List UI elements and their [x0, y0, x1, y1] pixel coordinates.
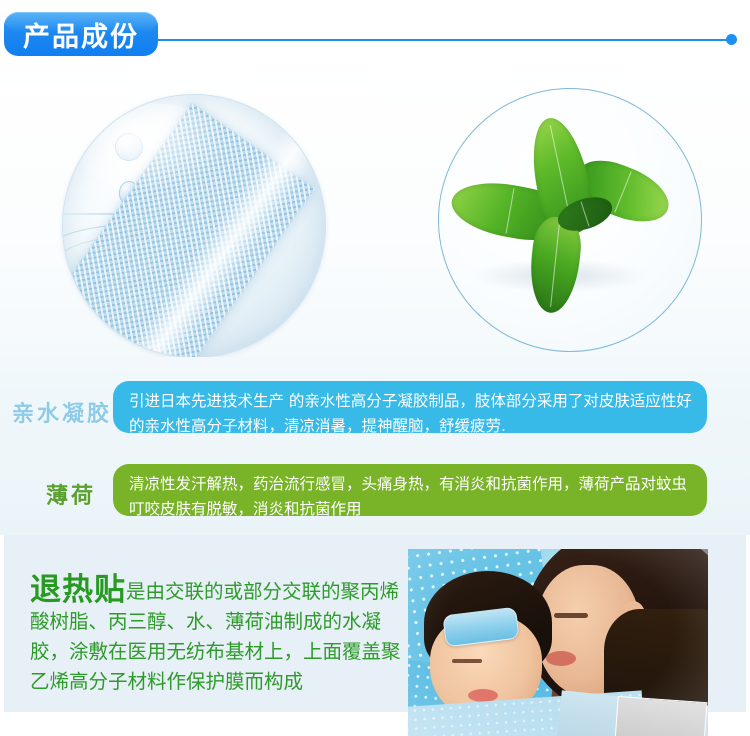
hydrogel-circle-image	[62, 94, 326, 358]
photo-soft-vignette	[408, 549, 708, 736]
header-rule	[120, 39, 730, 41]
ingredient-label-mint: 薄荷	[46, 478, 96, 510]
mother-and-child-photo	[408, 549, 708, 736]
header-badge-label: 产品成份	[4, 12, 158, 56]
header-badge: 产品成份	[4, 12, 158, 56]
circle-gloss-highlight	[77, 103, 227, 193]
ingredient-row-mint: 薄荷 清凉性发汗解热，药治流行感冒，头痛身热，有消炎和抗菌作用，薄荷产品对蚊虫叮…	[0, 460, 750, 516]
product-ingredients-page: 产品成份 亲水凝胶 薄荷	[0, 0, 750, 736]
ingredients-section: 亲水凝胶 引进日本先进技术生产 的亲水性高分子凝胶制品，肢体部分采用了对皮肤适应…	[0, 357, 750, 535]
ingredient-description-hydrogel: 引进日本先进技术生产 的亲水性高分子凝胶制品，肢体部分采用了对皮肤适应性好的亲水…	[113, 381, 707, 433]
mint-circle-image	[438, 88, 702, 352]
ingredient-description-mint: 清凉性发汗解热，药治流行感冒，头痛身热，有消炎和抗菌作用，薄荷产品对蚊虫叮咬皮肤…	[113, 464, 707, 516]
ingredient-row-hydrogel: 亲水凝胶 引进日本先进技术生产 的亲水性高分子凝胶制品，肢体部分采用了对皮肤适应…	[0, 375, 750, 435]
ingredient-label-hydrogel: 亲水凝胶	[12, 396, 112, 428]
section-header: 产品成份	[0, 0, 750, 70]
product-summary-text: 退热贴是由交联的或部分交联的聚丙烯酸树脂、丙三醇、水、薄荷油制成的水凝胶，涂敷在…	[30, 575, 402, 697]
hero-section: 亲水凝胶 薄荷	[0, 62, 750, 357]
header-end-dot-icon	[726, 34, 737, 45]
product-summary-lead: 退热贴	[30, 572, 126, 608]
